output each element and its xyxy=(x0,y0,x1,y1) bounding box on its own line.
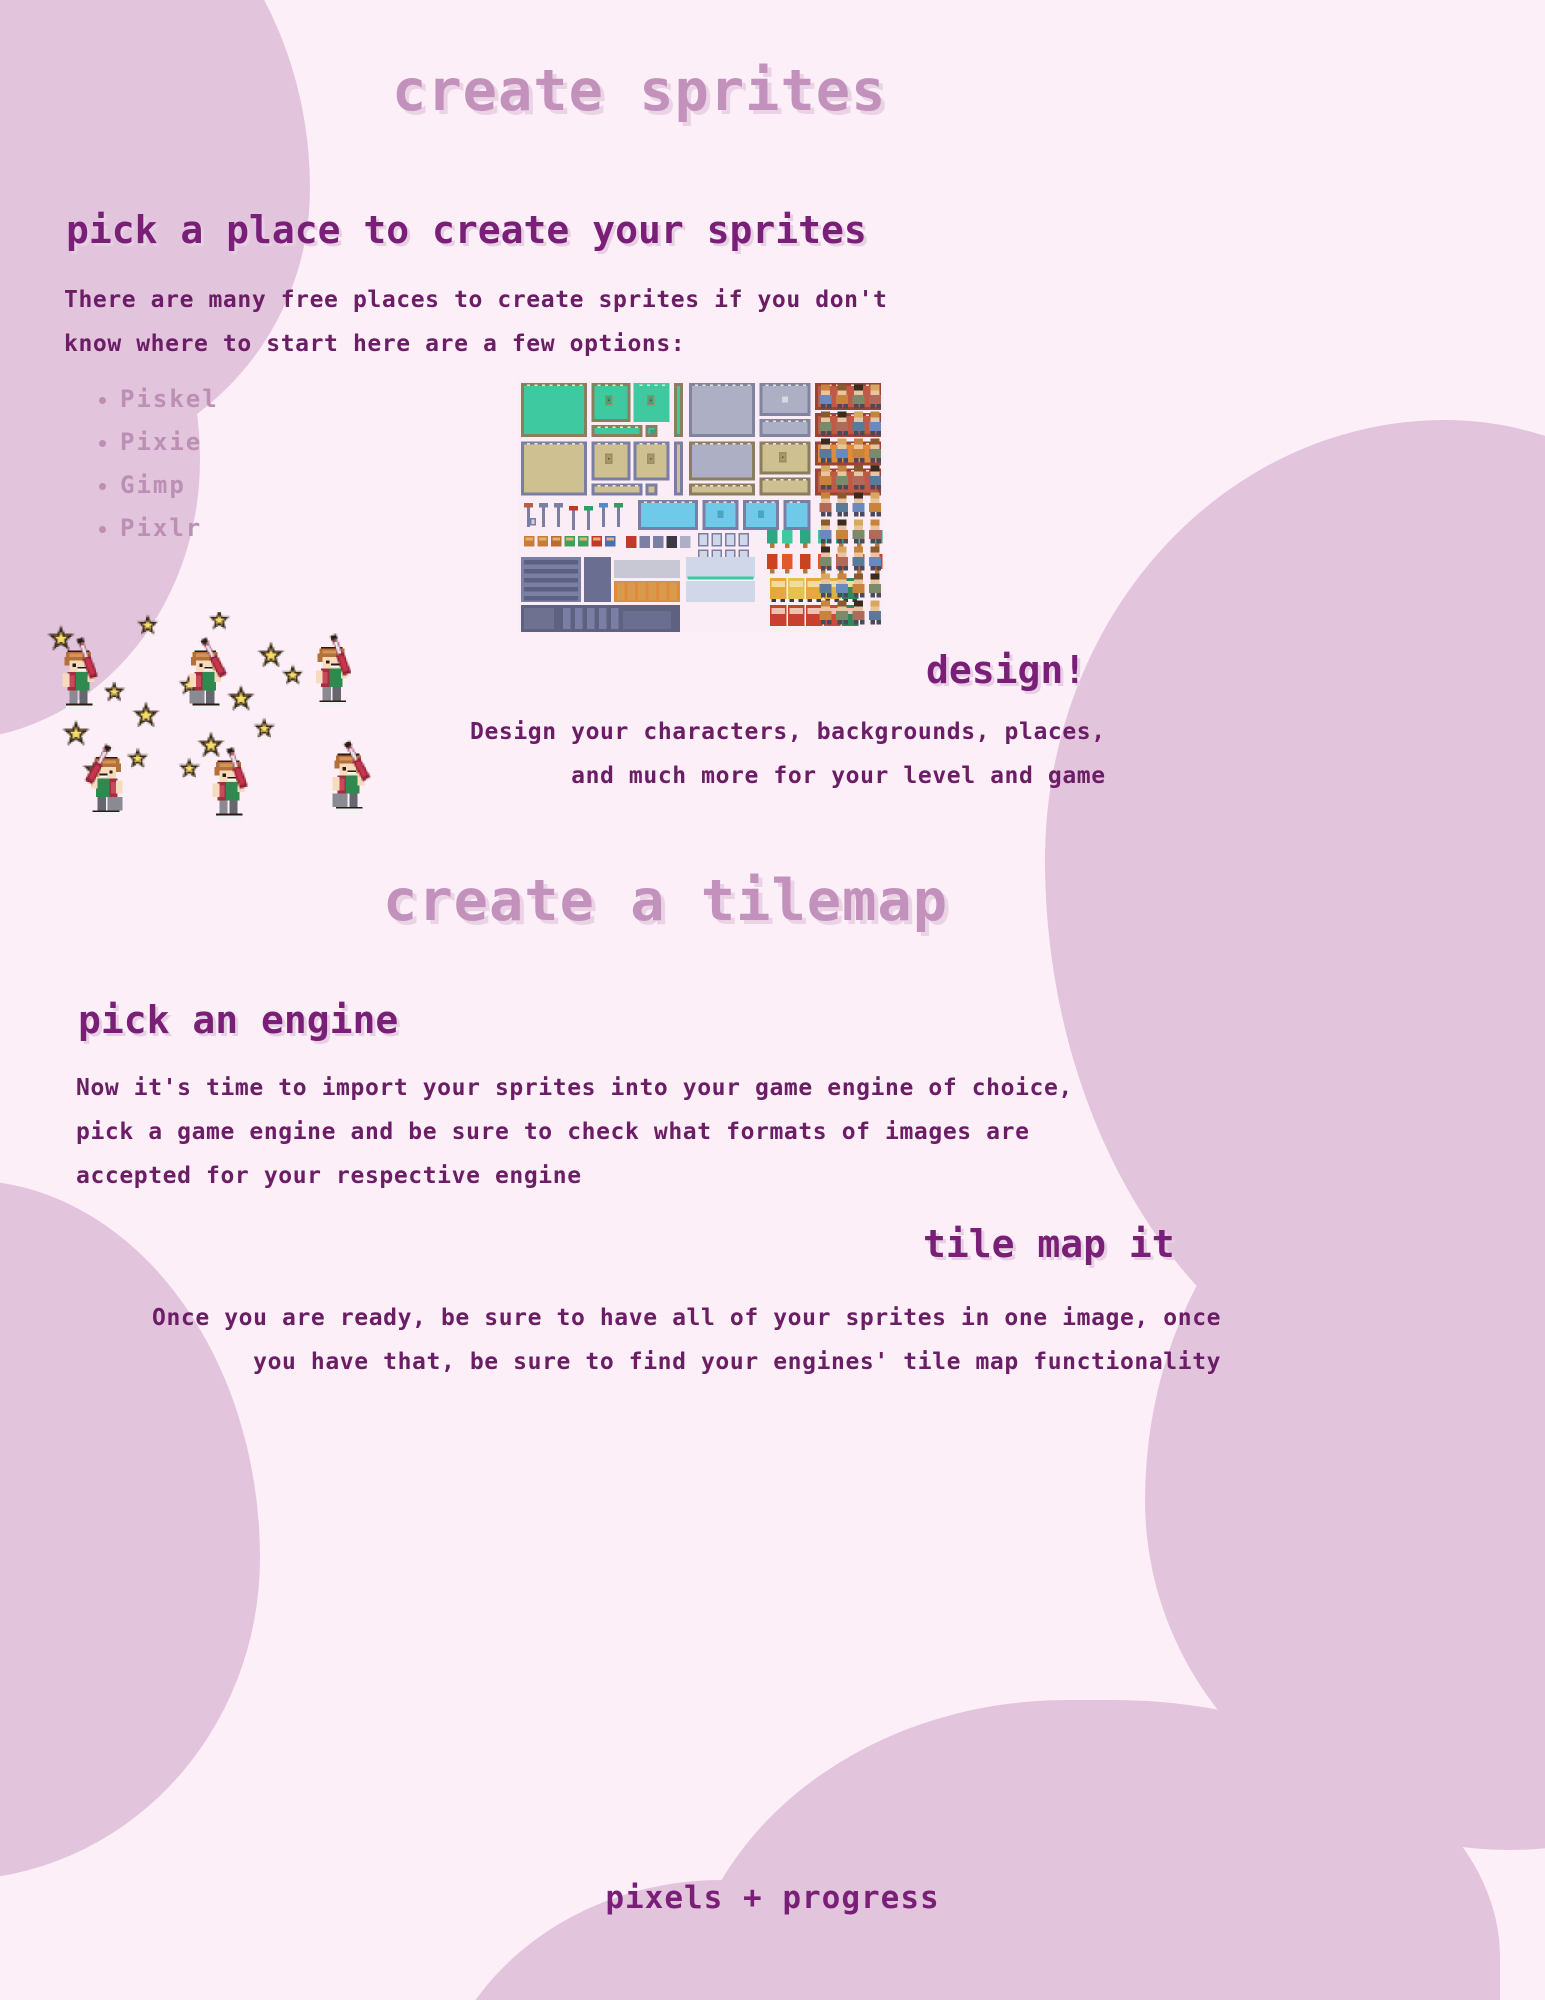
sprite-tool-options-list: Piskel Pixie Gimp Pixlr xyxy=(88,378,219,550)
list-item[interactable]: Piskel xyxy=(120,378,219,421)
section-title-create-sprites: create sprites xyxy=(392,58,886,124)
paragraph-tile-map-it: Once you are ready, be sure to have all … xyxy=(152,1296,1221,1384)
heading-design: design! xyxy=(926,648,1086,692)
list-item[interactable]: Pixlr xyxy=(120,507,219,550)
section-title-create-tilemap: create a tilemap xyxy=(383,868,948,934)
paragraph-design: Design your characters, backgrounds, pla… xyxy=(470,710,1106,798)
poster-page: create sprites pick a place to create yo… xyxy=(0,0,1545,2000)
paragraph-pick-a-place: There are many free places to create spr… xyxy=(64,278,888,366)
heading-pick-a-place: pick a place to create your sprites xyxy=(66,208,867,252)
list-item[interactable]: Gimp xyxy=(120,464,219,507)
tileset-image xyxy=(518,380,884,632)
heading-pick-an-engine: pick an engine xyxy=(78,998,398,1042)
paragraph-pick-an-engine: Now it's time to import your sprites int… xyxy=(76,1066,1073,1198)
list-item[interactable]: Pixie xyxy=(120,421,219,464)
footer-brand: pixels + progress xyxy=(0,1880,1545,1916)
decorative-blob-bottom-left xyxy=(0,1180,260,1880)
heading-tile-map-it: tile map it xyxy=(923,1222,1175,1266)
character-sprites-image xyxy=(46,612,476,847)
